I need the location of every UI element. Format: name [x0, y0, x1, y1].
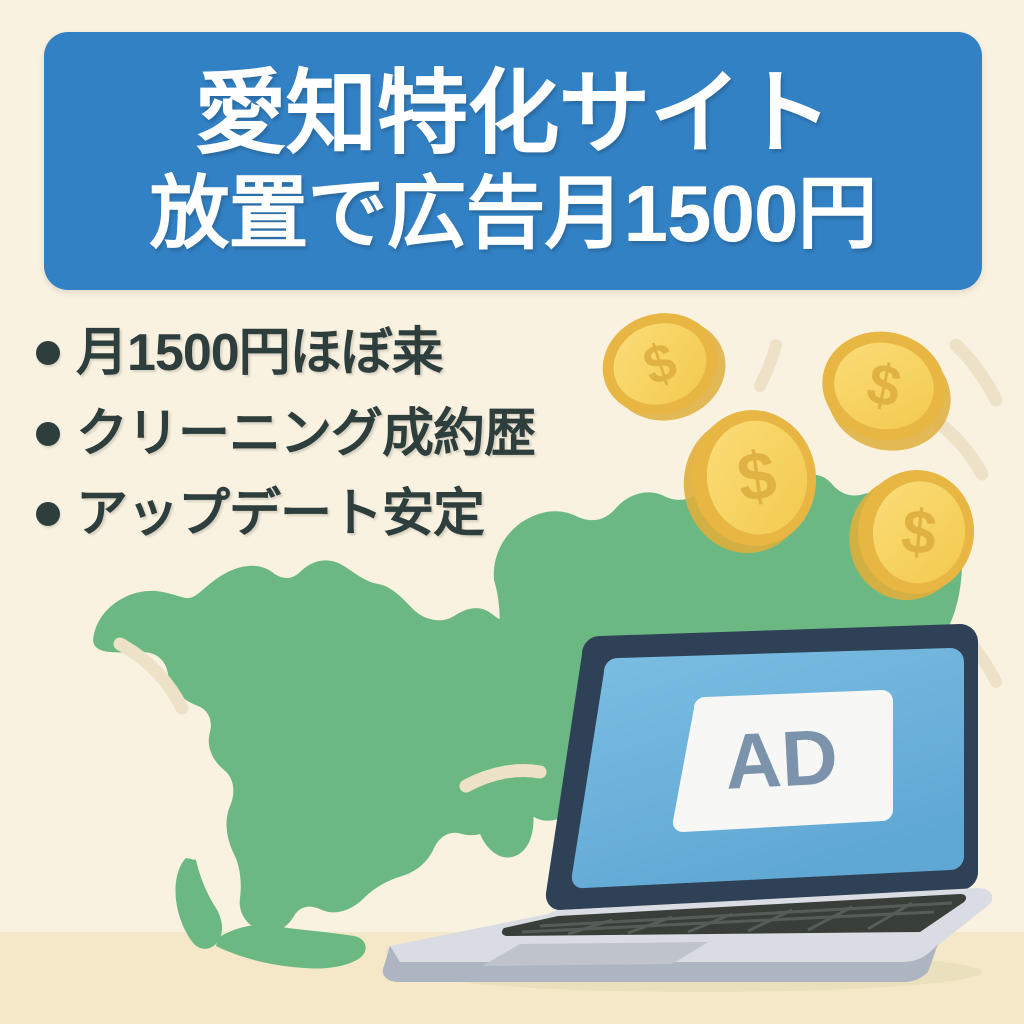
- ad-card: AD: [673, 690, 893, 832]
- header-banner: 愛知特化サイト 放置で広告月1500円: [44, 32, 982, 290]
- svg-text:$: $: [898, 497, 940, 569]
- ad-card-label: AD: [723, 712, 840, 806]
- poster-canvas: $ $ $ $: [0, 0, 1024, 1024]
- banner-title-line-1: 愛知特化サイト: [194, 68, 831, 160]
- list-item: 月1500円ほぼ𥸮: [36, 326, 636, 381]
- list-item: アップデート安定: [36, 487, 636, 542]
- gold-coin: $: [810, 320, 962, 462]
- bullet-dot-icon: [36, 422, 60, 446]
- laptop-illustration: AD: [372, 620, 992, 1000]
- bullet-label: クリーニング成約歴: [76, 407, 535, 462]
- bullet-label: 月1500円ほぼ𥸮: [76, 326, 443, 381]
- bullet-dot-icon: [36, 502, 60, 526]
- bullet-dot-icon: [36, 341, 60, 365]
- banner-title-line-2: 放置で広告月1500円: [150, 174, 877, 254]
- bullet-label: アップデート安定: [76, 487, 484, 542]
- list-item: クリーニング成約歴: [36, 407, 636, 462]
- feature-bullet-list: 月1500円ほぼ𥸮 クリーニング成約歴 アップデート安定: [36, 326, 636, 568]
